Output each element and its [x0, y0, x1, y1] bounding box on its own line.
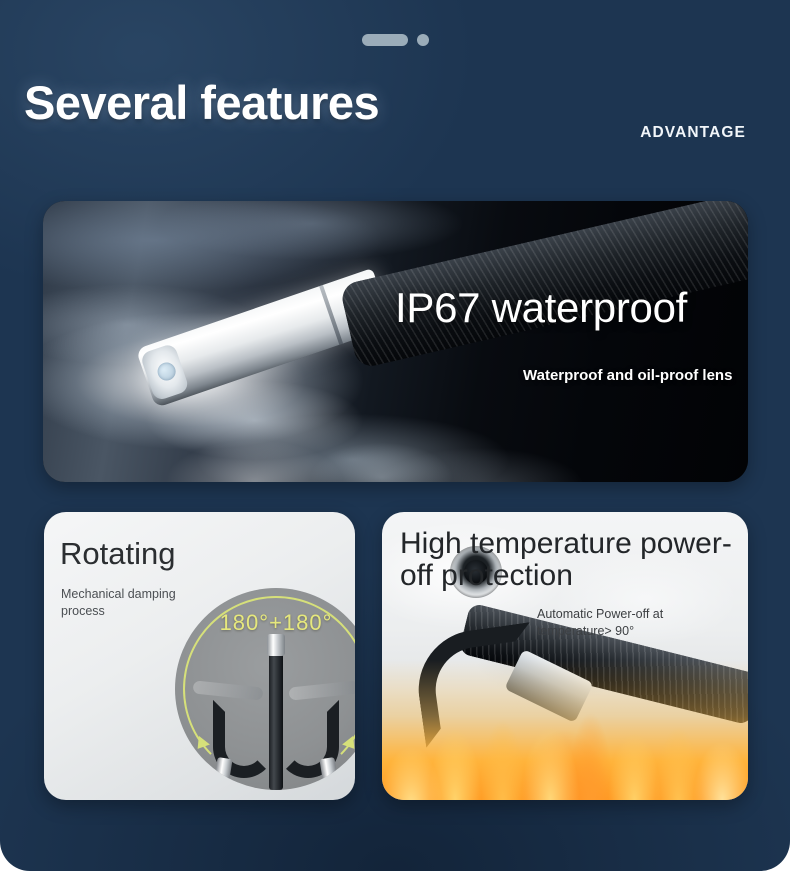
- flames-overlay: [382, 660, 748, 800]
- page-title: Several features: [24, 78, 379, 127]
- endoscope-probe-water-spray-photo: [43, 201, 748, 482]
- probe-band: [319, 285, 343, 345]
- page-indicator-next[interactable]: [417, 34, 429, 46]
- probe-cap-right: [319, 757, 339, 790]
- product-feature-slide: Several features ADVANTAGE IP67 waterpro…: [0, 0, 790, 871]
- section-eyebrow-label: ADVANTAGE: [640, 124, 746, 142]
- bendable-probe-rotation-diagram: 180°+180°: [175, 588, 355, 790]
- feature-card-waterproof[interactable]: IP67 waterproof Waterproof and oil-proof…: [43, 201, 748, 482]
- feature-card-waterproof-title: IP67 waterproof: [395, 284, 687, 332]
- feature-card-temperature-subtitle: Automatic Power-off at temperature> 90°: [537, 606, 717, 639]
- probe-stem: [269, 640, 283, 790]
- pagination-indicator[interactable]: [0, 34, 790, 46]
- page-indicator-active[interactable]: [362, 34, 408, 46]
- feature-card-waterproof-subtitle: Waterproof and oil-proof lens: [523, 367, 732, 384]
- probe-ferrule: [267, 634, 285, 656]
- feature-card-rotating-title: Rotating: [60, 536, 175, 572]
- feature-card-rotating[interactable]: Rotating Mechanical damping process 180°…: [44, 512, 355, 800]
- feature-card-temperature-title: High temperature power-off protection: [400, 528, 740, 592]
- probe-cap-left: [212, 757, 232, 790]
- feature-card-temperature[interactable]: High temperature power-off protection Au…: [382, 512, 748, 800]
- rotation-degrees-label: 180°+180°: [175, 610, 355, 636]
